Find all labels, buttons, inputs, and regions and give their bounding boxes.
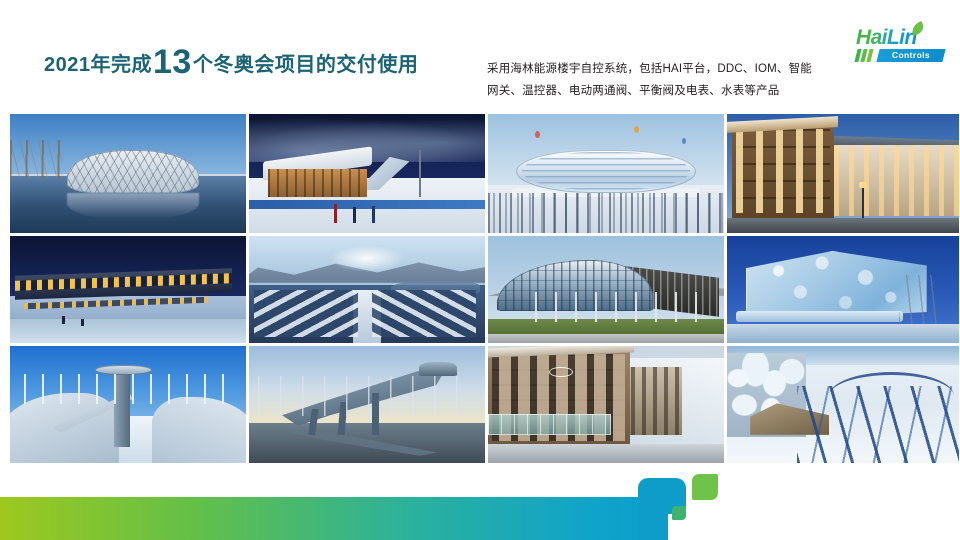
street [727, 218, 959, 233]
bare-trees [10, 140, 62, 178]
glass-balustrade [488, 414, 611, 435]
birds-nest-stadium [67, 150, 199, 193]
hotel-main-block [732, 124, 834, 219]
mist-glow [329, 245, 405, 273]
street-lamp [862, 187, 864, 218]
gallery-photo-11 [488, 346, 724, 463]
skier [372, 206, 375, 224]
gallery-photo-2 [249, 114, 485, 233]
light-masts [258, 376, 475, 416]
title-suffix: 个冬奥会项目的交付使用 [193, 54, 419, 76]
village-roofs-right [372, 290, 476, 337]
logo-wordmark: HaiLin [856, 26, 917, 50]
title-prefix: 2021年完成 [44, 54, 152, 76]
page-title: 2021年完成13个冬奥会项目的交付使用 [44, 48, 418, 77]
balloon [682, 138, 686, 144]
gallery-photo-8 [727, 236, 959, 343]
flag-line [24, 374, 232, 404]
village-roofs-left [254, 290, 358, 337]
bare-trees [899, 275, 941, 324]
accent-square-large [692, 474, 718, 500]
photo-gallery-grid [10, 114, 950, 457]
balloon [535, 131, 540, 138]
footer-gradient-bar [0, 497, 662, 540]
logo-bars-icon [854, 49, 877, 62]
plaza [488, 334, 724, 343]
gallery-photo-10 [249, 346, 485, 463]
foreground-snow [10, 319, 246, 343]
description-line-2: 网关、温控器、电动两通阀、平衡阀及电表、水表等产品 [487, 80, 847, 102]
person [62, 316, 65, 323]
stadium-reflection [67, 193, 199, 219]
flag-poles [535, 292, 710, 322]
hotel-wing [834, 145, 959, 216]
barrier-fence [249, 200, 485, 210]
slide-header: 2021年完成13个冬奥会项目的交付使用 采用海林能源楼宇自控系统，包括HAI平… [0, 0, 960, 110]
gallery-photo-5 [10, 236, 246, 343]
skier [334, 204, 337, 223]
ramp-top-house [419, 362, 457, 376]
olympic-rings-emblem [549, 367, 572, 377]
ice-ribbon-oval [516, 150, 695, 193]
leaf-icon [909, 21, 925, 36]
light-pole [419, 150, 421, 198]
gallery-photo-3 [488, 114, 724, 233]
gallery-photo-7 [488, 236, 724, 343]
gallery-photo-9 [10, 346, 246, 463]
gallery-photo-12 [727, 346, 959, 463]
hailin-logo: HaiLin Controls [856, 26, 948, 68]
venue-building [268, 169, 367, 198]
logo-tagline: Controls [878, 49, 944, 62]
skier [353, 207, 356, 224]
accent-square-small [672, 506, 686, 520]
header-description: 采用海林能源楼宇自控系统，包括HAI平台，DDC、IOM、智能 网关、温控器、电… [487, 58, 847, 102]
gallery-photo-4 [727, 114, 959, 233]
slide-root: 2021年完成13个冬奥会项目的交付使用 采用海林能源楼宇自控系统，包括HAI平… [0, 0, 960, 540]
person [81, 319, 84, 325]
gallery-photo-1 [10, 114, 246, 233]
title-highlight: 13 [152, 43, 193, 81]
entrance-canopy [736, 311, 903, 322]
ground [727, 324, 959, 343]
crowd [488, 193, 724, 233]
gallery-photo-6 [249, 236, 485, 343]
footer-decoration [0, 450, 960, 540]
logo-banner: Controls [876, 49, 945, 62]
description-line-1: 采用海林能源楼宇自控系统，包括HAI平台，DDC、IOM、智能 [487, 58, 847, 80]
